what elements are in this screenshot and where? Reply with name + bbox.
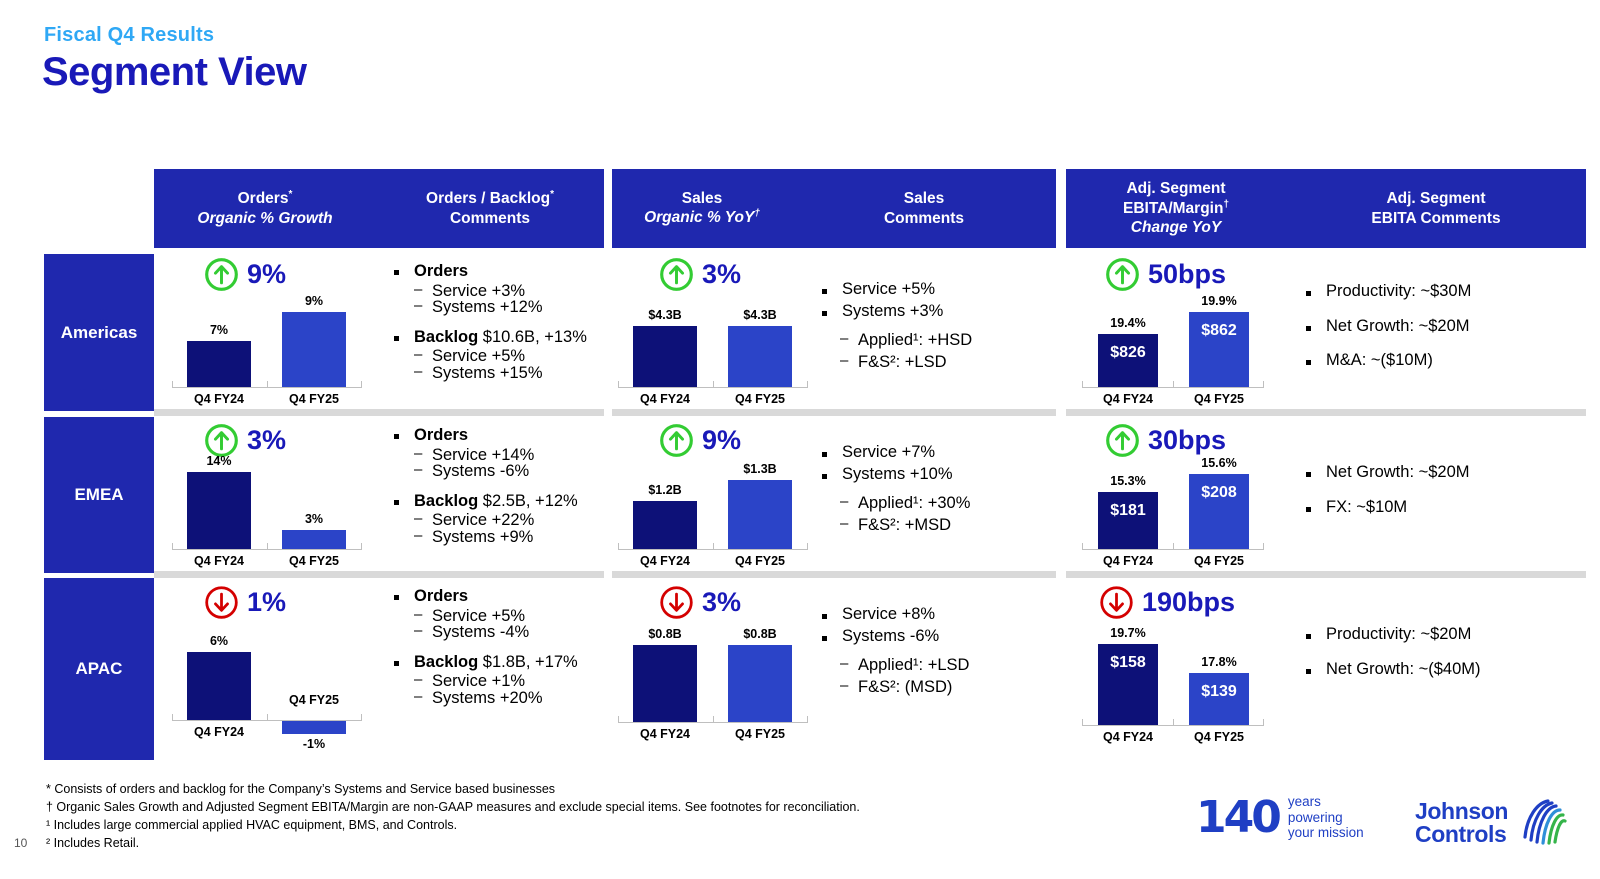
- page-number: 10: [14, 836, 27, 850]
- orders-comments-apac: Orders Service +5% Systems -4% Backlog $…: [390, 588, 578, 706]
- comment-bullet: Systems +3%: [816, 303, 972, 320]
- x-label-fy25: Q4 FY25: [282, 693, 346, 707]
- comment-bullet: Systems +10%: [816, 466, 970, 483]
- footnotes: * Consists of orders and backlog for the…: [46, 780, 860, 853]
- chart-emea-ebita: 15.3% $181 15.6% $208 Q4 FY24 Q4 FY25: [1082, 450, 1264, 550]
- bar-label-fy25: $1.3B: [728, 462, 792, 476]
- bar-fy24: [633, 501, 697, 549]
- x-label-fy24: Q4 FY24: [1098, 392, 1158, 406]
- anniversary-tagline: years powering your mission: [1288, 794, 1364, 842]
- comment-bullet: Backlog $2.5B, +12%: [390, 493, 578, 510]
- axis-tick-end: [1263, 543, 1264, 550]
- comment-bullet: Productivity: ~$20M: [1300, 626, 1481, 643]
- bar-margin-fy25: 15.6%: [1189, 456, 1249, 470]
- comment-bullet: Service +7%: [816, 444, 970, 461]
- axis-tick-right: [713, 543, 714, 550]
- x-label-fy24: Q4 FY24: [633, 554, 697, 568]
- x-label-fy25: Q4 FY25: [728, 727, 792, 741]
- header-ob-title: Orders / Backlog: [426, 190, 550, 207]
- comment-bullet: Net Growth: ~($40M): [1300, 661, 1481, 678]
- sales-comments-emea: Service +7% Systems +10% Applied¹: +30% …: [816, 444, 970, 533]
- bar-label-fy25: $0.8B: [728, 627, 792, 641]
- comment-dash: Applied¹: +LSD: [816, 657, 969, 674]
- axis-tick-right: [1173, 719, 1174, 726]
- comment-bullet: Systems -6%: [816, 628, 969, 645]
- segment-label-emea-text: EMEA: [74, 485, 123, 505]
- johnson-controls-logo: Johnson Controls: [1415, 797, 1571, 849]
- footnote-1: ¹ Includes large commercial applied HVAC…: [46, 816, 860, 834]
- footnote-asterisk: * Consists of orders and backlog for the…: [46, 780, 860, 798]
- kpi-apac-ebita: 190bps: [1098, 584, 1235, 621]
- anniversary-logo: 140 years powering your mission: [1196, 792, 1364, 843]
- comment-dash: F&S²: +LSD: [816, 354, 972, 371]
- row-separator-2b: [612, 571, 1056, 578]
- chart-americas-orders: 7% 9% Q4 FY24 Q4 FY25: [172, 288, 362, 388]
- header-sc-title: Sales: [884, 189, 964, 208]
- axis-tick-end: [807, 716, 808, 723]
- axis-tick-right: [713, 381, 714, 388]
- bar-margin-fy24: 19.4%: [1098, 316, 1158, 330]
- jci-swoosh-icon: [1515, 797, 1571, 849]
- axis-tick-end: [1263, 719, 1264, 726]
- comment-bullet: FX: ~$10M: [1300, 499, 1470, 516]
- axis-tick-left: [172, 714, 173, 721]
- comment-dash: Applied¹: +30%: [816, 495, 970, 512]
- comment-dash: F&S²: +MSD: [816, 517, 970, 534]
- tagline-line1: years: [1288, 794, 1364, 810]
- comment-dash: Systems -6%: [390, 463, 578, 480]
- anniversary-number: 140: [1196, 792, 1279, 843]
- kpi-americas-sales-value: 3%: [702, 259, 741, 290]
- axis-tick-left: [618, 716, 619, 723]
- comment-bullet: Orders: [390, 588, 578, 605]
- arrow-down-icon: [1098, 584, 1135, 621]
- x-label-fy25: Q4 FY25: [1189, 554, 1249, 568]
- bar-margin-fy25: 17.8%: [1189, 655, 1249, 669]
- bar-fy25: [728, 480, 792, 549]
- x-label-fy24: Q4 FY24: [1098, 554, 1158, 568]
- segment-table: Orders* Organic % Growth Orders / Backlo…: [0, 0, 1600, 879]
- axis-tick-right: [267, 543, 268, 550]
- comment-bullet: M&A: ~($10M): [1300, 352, 1471, 369]
- comment-dash: Systems +12%: [390, 299, 587, 316]
- x-label-fy25: Q4 FY25: [1189, 730, 1249, 744]
- axis-tick-right: [713, 716, 714, 723]
- axis-tick-end: [361, 714, 362, 721]
- chart-americas-ebita: 19.4% $826 19.9% $862 Q4 FY24 Q4 FY25: [1082, 288, 1264, 388]
- brand-line2: Controls: [1415, 823, 1508, 846]
- header-sales-sub: Organic % YoY: [644, 210, 754, 227]
- bar-fy24: [187, 341, 251, 387]
- segment-label-apac-text: APAC: [76, 659, 123, 679]
- header-ebita-marker: †: [1223, 199, 1229, 210]
- segment-label-americas: Americas: [44, 254, 154, 411]
- bar-label-fy25: -1%: [282, 737, 346, 751]
- kpi-apac-ebita-value: 190bps: [1142, 587, 1235, 618]
- x-label-fy25: Q4 FY25: [728, 554, 792, 568]
- bar-margin-fy24: 19.7%: [1098, 626, 1158, 640]
- axis-tick-left: [172, 381, 173, 388]
- bar-fy24: [187, 472, 251, 549]
- header-ob-marker: *: [550, 189, 554, 200]
- axis-tick-right: [267, 381, 268, 388]
- row-separator-2: [154, 571, 604, 578]
- ebita-comments-americas: Productivity: ~$30M Net Growth: ~$20M M&…: [1300, 283, 1471, 369]
- header-ebita-sub: Change YoY: [1123, 218, 1229, 237]
- header-sales-comments: Sales Comments: [792, 169, 1056, 248]
- comment-bullet: Service +5%: [816, 281, 972, 298]
- segment-label-emea: EMEA: [44, 417, 154, 573]
- bar-value-fy25: $862: [1189, 322, 1249, 340]
- axis-tick-left: [1082, 381, 1083, 388]
- header-ebita-line1: Adj. Segment: [1123, 179, 1229, 198]
- comment-dash: Applied¹: +HSD: [816, 332, 972, 349]
- x-label-fy25: Q4 FY25: [728, 392, 792, 406]
- ebita-comments-emea: Net Growth: ~$20M FX: ~$10M: [1300, 464, 1470, 515]
- header-sales-title: Sales: [644, 189, 760, 208]
- bar-margin-fy24: 15.3%: [1098, 474, 1158, 488]
- comment-bullet: Net Growth: ~$20M: [1300, 318, 1471, 335]
- axis-tick-right: [1173, 381, 1174, 388]
- header-ebita-comments: Adj. Segment EBITA Comments: [1286, 169, 1586, 248]
- comment-dash: Systems -4%: [390, 624, 578, 641]
- bar-label-fy24: 14%: [187, 454, 251, 468]
- axis-tick-end: [361, 381, 362, 388]
- axis-tick-right: [1173, 543, 1174, 550]
- bar-value-fy24: $181: [1098, 502, 1158, 520]
- footnote-dagger: † Organic Sales Growth and Adjusted Segm…: [46, 798, 860, 816]
- header-orders-title: Orders: [238, 190, 289, 207]
- bar-fy25: [728, 326, 792, 387]
- bar-value-fy25: $139: [1189, 683, 1249, 701]
- header-sales: Sales Organic % YoY†: [612, 169, 792, 248]
- axis-tick-left: [1082, 543, 1083, 550]
- axis-tick-end: [807, 543, 808, 550]
- bar-label-fy24: $1.2B: [633, 483, 697, 497]
- kpi-americas-ebita-value: 50bps: [1148, 259, 1226, 290]
- comment-bullet: Orders: [390, 263, 587, 280]
- orders-comments-emea: Orders Service +14% Systems -6% Backlog …: [390, 427, 578, 545]
- header-ec-line2: EBITA Comments: [1371, 209, 1500, 228]
- brand-line1: Johnson: [1415, 800, 1508, 823]
- kpi-americas-orders-value: 9%: [247, 259, 286, 290]
- comment-bullet: Backlog $10.6B, +13%: [390, 329, 587, 346]
- chart-apac-ebita: 19.7% $158 17.8% $139 Q4 FY24 Q4 FY25: [1082, 620, 1264, 725]
- axis-tick-right: [267, 714, 268, 721]
- comment-dash: Systems +9%: [390, 529, 578, 546]
- x-label-fy24: Q4 FY24: [187, 554, 251, 568]
- chart-americas-sales: $4.3B $4.3B Q4 FY24 Q4 FY25: [618, 288, 808, 388]
- bar-value-fy24: $826: [1098, 344, 1158, 362]
- segment-label-americas-text: Americas: [61, 323, 138, 343]
- axis-tick-left: [618, 543, 619, 550]
- bar-label-fy25: $4.3B: [728, 308, 792, 322]
- segment-label-apac: APAC: [44, 578, 154, 760]
- bar-label-fy24: 6%: [187, 634, 251, 648]
- bar-label-fy25: 3%: [282, 512, 346, 526]
- x-label-fy24: Q4 FY24: [633, 727, 697, 741]
- axis-tick-left: [618, 381, 619, 388]
- kpi-apac-orders: 1%: [203, 584, 286, 621]
- brand-wordmark: Johnson Controls: [1415, 800, 1508, 846]
- bar-label-fy24: 7%: [187, 323, 251, 337]
- bar-fy24: [1098, 492, 1158, 549]
- axis-tick-end: [807, 381, 808, 388]
- arrow-down-icon: [203, 584, 240, 621]
- row-separator-1c: [1066, 409, 1586, 416]
- axis-tick-left: [1082, 719, 1083, 726]
- bar-fy24: [633, 326, 697, 387]
- header-sc-sub: Comments: [884, 209, 964, 228]
- bar-label-fy24: $0.8B: [633, 627, 697, 641]
- bar-fy24: [187, 652, 251, 720]
- header-ebita-margin: Adj. Segment EBITA/Margin† Change YoY: [1066, 169, 1286, 248]
- ebita-comments-apac: Productivity: ~$20M Net Growth: ~($40M): [1300, 626, 1481, 677]
- header-sales-sub-marker: †: [754, 208, 760, 219]
- orders-comments-americas: Orders Service +3% Systems +12% Backlog …: [390, 263, 587, 381]
- comment-bullet: Service +8%: [816, 606, 969, 623]
- footnote-2: ² Includes Retail.: [46, 834, 860, 852]
- header-orders-backlog-comments: Orders / Backlog* Comments: [376, 169, 604, 248]
- axis-tick-end: [1263, 381, 1264, 388]
- x-label-fy24: Q4 FY24: [187, 725, 251, 739]
- chart-emea-sales: $1.2B $1.3B Q4 FY24 Q4 FY25: [618, 450, 808, 550]
- row-separator-2c: [1066, 571, 1586, 578]
- bar-fy25: [728, 645, 792, 722]
- kpi-apac-orders-value: 1%: [247, 587, 286, 618]
- bar-fy25: [282, 312, 346, 387]
- chart-apac-sales: $0.8B $0.8B Q4 FY24 Q4 FY25: [618, 612, 808, 727]
- axis-tick-left: [172, 543, 173, 550]
- sales-comments-apac: Service +8% Systems -6% Applied¹: +LSD F…: [816, 606, 969, 695]
- comment-dash: F&S²: (MSD): [816, 679, 969, 696]
- header-orders-sub: Organic % Growth: [197, 209, 332, 228]
- bar-value-fy25: $208: [1189, 484, 1249, 502]
- x-label-fy25: Q4 FY25: [1189, 392, 1249, 406]
- comment-bullet: Backlog $1.8B, +17%: [390, 654, 578, 671]
- comment-bullet: Net Growth: ~$20M: [1300, 464, 1470, 481]
- comment-bullet: Orders: [390, 427, 578, 444]
- header-orders-marker: *: [288, 189, 292, 200]
- header-ec-line1: Adj. Segment: [1371, 189, 1500, 208]
- axis-tick-end: [361, 543, 362, 550]
- bar-fy25: [282, 530, 346, 549]
- comment-dash: Systems +20%: [390, 690, 578, 707]
- x-label-fy25: Q4 FY25: [282, 392, 346, 406]
- bar-label-fy25: 9%: [282, 294, 346, 308]
- x-label-fy25: Q4 FY25: [282, 554, 346, 568]
- bar-fy25-negative: [282, 721, 346, 734]
- chart-emea-orders: 14% 3% Q4 FY24 Q4 FY25: [172, 450, 362, 550]
- header-ebita-line2: EBITA/Margin: [1123, 200, 1223, 217]
- bar-margin-fy25: 19.9%: [1189, 294, 1249, 308]
- header-orders: Orders* Organic % Growth: [154, 169, 376, 248]
- comment-dash: Systems +15%: [390, 365, 587, 382]
- tagline-line3: your mission: [1288, 825, 1364, 841]
- tagline-line2: powering: [1288, 810, 1364, 826]
- row-separator-1: [154, 409, 604, 416]
- comment-bullet: Productivity: ~$30M: [1300, 283, 1471, 300]
- header-ob-sub: Comments: [426, 209, 554, 228]
- row-separator-1b: [612, 409, 1056, 416]
- sales-comments-americas: Service +5% Systems +3% Applied¹: +HSD F…: [816, 281, 972, 370]
- bar-label-fy24: $4.3B: [633, 308, 697, 322]
- x-label-fy24: Q4 FY24: [1098, 730, 1158, 744]
- x-label-fy24: Q4 FY24: [633, 392, 697, 406]
- x-label-fy24: Q4 FY24: [187, 392, 251, 406]
- bar-value-fy24: $158: [1098, 654, 1158, 672]
- chart-apac-orders: 6% Q4 FY24 Q4 FY25 -1%: [172, 626, 362, 726]
- bar-fy24: [633, 645, 697, 722]
